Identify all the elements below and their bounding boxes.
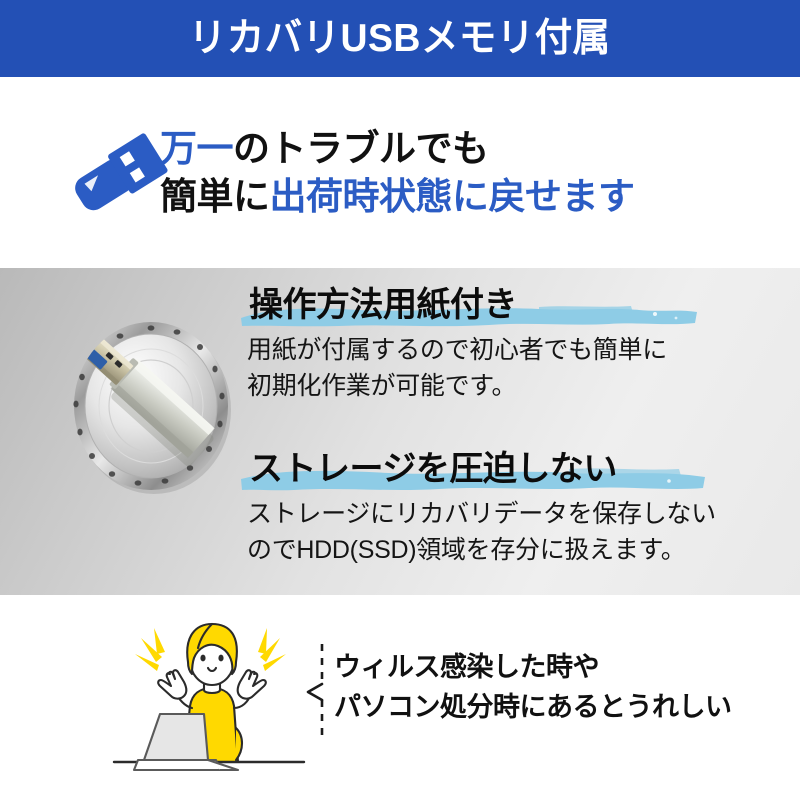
usecase-line-1: ウィルス感染した時や <box>334 647 794 687</box>
features-section: 操作方法用紙付き 用紙が付属するので初心者でも簡単に 初期化作業が可能です。 ス… <box>0 268 800 595</box>
sparkle-right <box>258 628 286 671</box>
subheading-lines: 万一のトラブルでも 簡単に出荷時状態に戻せます <box>160 125 780 221</box>
feature-heading: 操作方法用紙付き <box>247 284 519 326</box>
header-title: リカバリUSBメモリ付属 <box>189 19 611 58</box>
feature-item: 操作方法用紙付き 用紙が付属するので初心者でも簡単に 初期化作業が可能です。 <box>247 284 787 404</box>
usb-flash-drive-icon <box>68 132 168 222</box>
subheading-line-2: 簡単に出荷時状態に戻せます <box>160 173 780 221</box>
subheading-line2-black: 簡単に <box>160 176 270 217</box>
usecase-line-2: パソコン処分時にあるとうれしい <box>334 687 794 727</box>
feature-heading-text: ストレージを圧迫しない <box>249 450 617 488</box>
feature-heading-text: 操作方法用紙付き <box>249 286 517 324</box>
usb-memory-photo <box>62 316 240 498</box>
subheading-line2-blue: 出荷時状態に戻せます <box>270 176 635 217</box>
feature-body-line-1: ストレージにリカバリデータを保存しない <box>247 496 787 532</box>
sparkle-left <box>135 628 165 671</box>
feature-body-line-2: 初期化作業が可能です。 <box>247 368 787 404</box>
promo-banner: リカバリUSBメモリ付属 万一のトラブルでも 簡単に出荷時状態に戻せます <box>0 0 800 800</box>
woman-at-laptop-illustration <box>108 610 316 790</box>
feature-body-line-1: 用紙が付属するので初心者でも簡単に <box>247 332 787 368</box>
feature-list: 操作方法用紙付き 用紙が付属するので初心者でも簡単に 初期化作業が可能です。 ス… <box>247 284 787 568</box>
subheading-line-1: 万一のトラブルでも <box>160 125 780 173</box>
usecase-text: ウィルス感染した時や パソコン処分時にあるとうれしい <box>334 647 794 727</box>
dashed-brace-pointer <box>300 642 334 742</box>
feature-item: ストレージを圧迫しない ストレージにリカバリデータを保存しない のでHDD(SS… <box>247 448 787 568</box>
feature-body-line-2: のでHDD(SSD)領域を存分に扱えます。 <box>247 532 787 568</box>
subheading-line1-blue: 万一 <box>160 128 233 169</box>
subheading-line1-black: のトラブルでも <box>233 128 489 169</box>
subheading-section: 万一のトラブルでも 簡単に出荷時状態に戻せます <box>0 77 800 267</box>
feature-heading: ストレージを圧迫しない <box>247 448 619 490</box>
usecase-section: ウィルス感染した時や パソコン処分時にあるとうれしい <box>0 595 800 800</box>
header-band: リカバリUSBメモリ付属 <box>0 0 800 77</box>
